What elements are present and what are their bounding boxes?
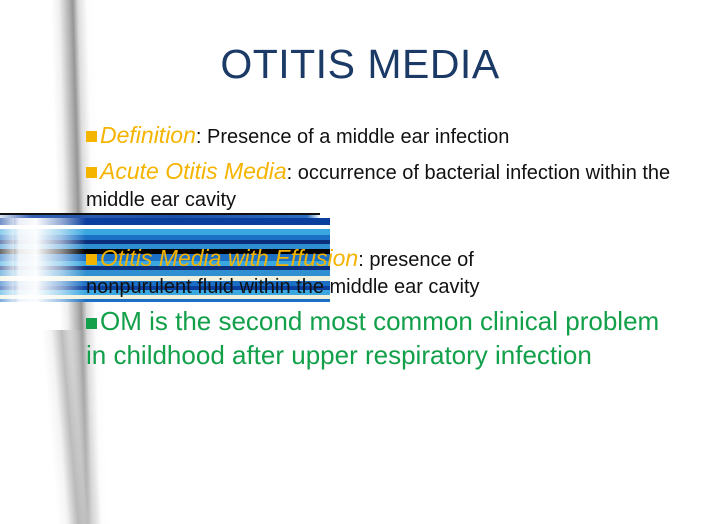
page-title: OTITIS MEDIA <box>0 42 720 87</box>
bullet-body-text: nonpurulent fluid within the middle ear … <box>86 276 480 298</box>
bullet-item-om-prevalence: OM is the second most common clinical pr… <box>86 304 686 373</box>
bullet-item-acute-otitis-media: Acute Otitis Media: occurrence of bacter… <box>86 156 686 214</box>
artifact-stripe-fade-edge <box>0 218 14 302</box>
gold-square-bullet-icon <box>86 131 97 142</box>
bullet-lead-term: Acute Otitis Media <box>100 158 287 184</box>
slide-canvas: OTITIS MEDIA Definition: Presence of a m… <box>0 0 720 524</box>
bullet-item-definition: Definition: Presence of a middle ear inf… <box>86 120 686 151</box>
gold-square-bullet-icon <box>86 167 97 178</box>
bullet-overlay-effusion: Otitis Media with Effusion: presence of <box>86 243 686 274</box>
green-square-bullet-icon <box>86 318 97 329</box>
bullet-lead-term: Otitis Media with Effusion <box>100 245 358 271</box>
bullet-body-text: : Presence of a middle ear infection <box>196 126 510 148</box>
bullet-body-text: OM is the second most common clinical pr… <box>86 306 659 370</box>
gold-square-bullet-icon <box>86 254 97 265</box>
bullet-overlay-effusion-line2: nonpurulent fluid within the middle ear … <box>86 274 686 301</box>
artifact-stripe-fade <box>0 218 86 302</box>
bullet-body-text: : presence of <box>358 249 474 271</box>
bullet-lead-term: Definition <box>100 122 196 148</box>
